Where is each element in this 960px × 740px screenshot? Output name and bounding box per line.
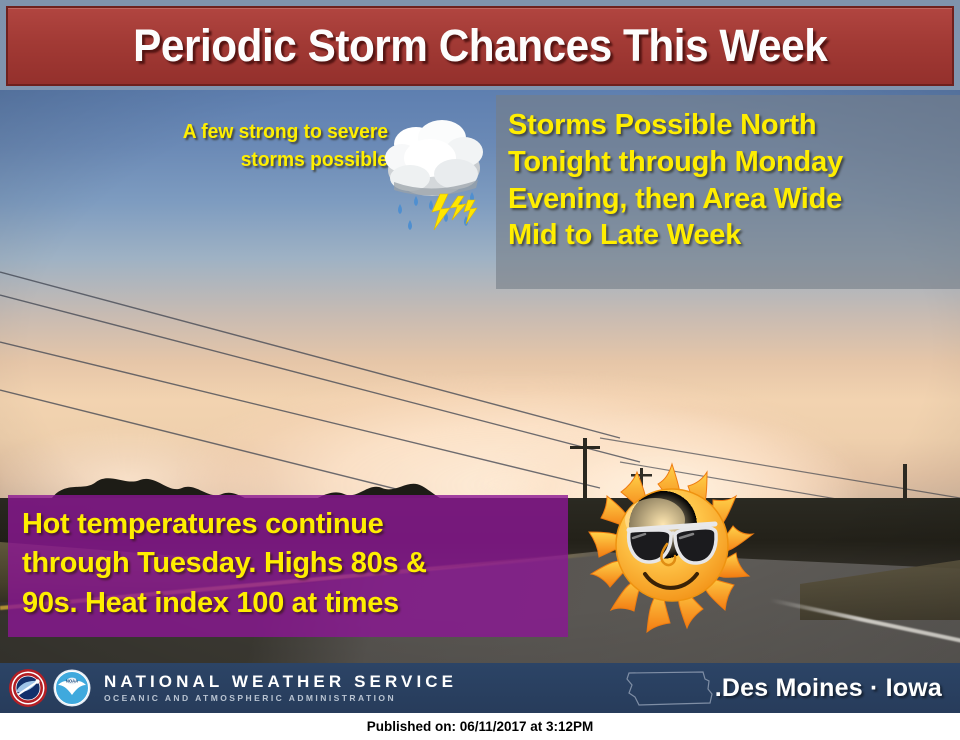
thunderstorm-cloud-icon [380,108,490,243]
storm-forecast-line1: Storms Possible North [508,107,948,144]
heat-forecast-line3: 90s. Heat index 100 at times [22,584,562,623]
storm-forecast-panel: Storms Possible North Tonight through Mo… [496,95,960,289]
storm-forecast-line3: Evening, then Area Wide [508,181,948,218]
noaa-logo-icon: NOAA [52,668,92,708]
published-bar: Published on: 06/11/2017 at 3:12PM [0,713,960,740]
severe-storm-caption-line2: storms possible [108,146,388,174]
heat-forecast-line2: through Tuesday. Highs 80s & [22,544,562,583]
storm-forecast-line4: Mid to Late Week [508,217,948,254]
storm-forecast-text: Storms Possible North Tonight through Mo… [508,107,948,254]
svg-text:NOAA: NOAA [66,679,78,684]
footer-bar: NOAA NATIONAL WEATHER SERVICE OCEANIC AN… [0,663,960,713]
sun-with-sunglasses-icon [583,452,761,638]
page-title: Periodic Storm Chances This Week [133,20,827,72]
severe-storm-caption-line1: A few strong to severe [108,118,388,146]
agency-subtitle: OCEANIC AND ATMOSPHERIC ADMINISTRATION [104,694,457,703]
heat-forecast-text: Hot temperatures continue through Tuesda… [22,505,562,623]
iowa-outline-icon [617,667,727,709]
agency-name: NATIONAL WEATHER SERVICE [104,673,457,690]
heat-forecast-line1: Hot temperatures continue [22,505,562,544]
agency-text: NATIONAL WEATHER SERVICE OCEANIC AND ATM… [104,673,457,703]
office-name: .Des Moines · Iowa [715,674,942,703]
title-banner: Periodic Storm Chances This Week [6,6,954,86]
nws-seal-icon [8,668,48,708]
heat-forecast-panel: Hot temperatures continue through Tuesda… [8,495,568,637]
weather-graphic: Periodic Storm Chances This Week [0,0,960,740]
published-timestamp: Published on: 06/11/2017 at 3:12PM [367,719,594,734]
agency-branding: NOAA NATIONAL WEATHER SERVICE OCEANIC AN… [8,667,457,709]
severe-storm-caption: A few strong to severe storms possible [108,118,388,175]
office-branding: .Des Moines · Iowa [715,663,942,713]
storm-forecast-line2: Tonight through Monday [508,144,948,181]
